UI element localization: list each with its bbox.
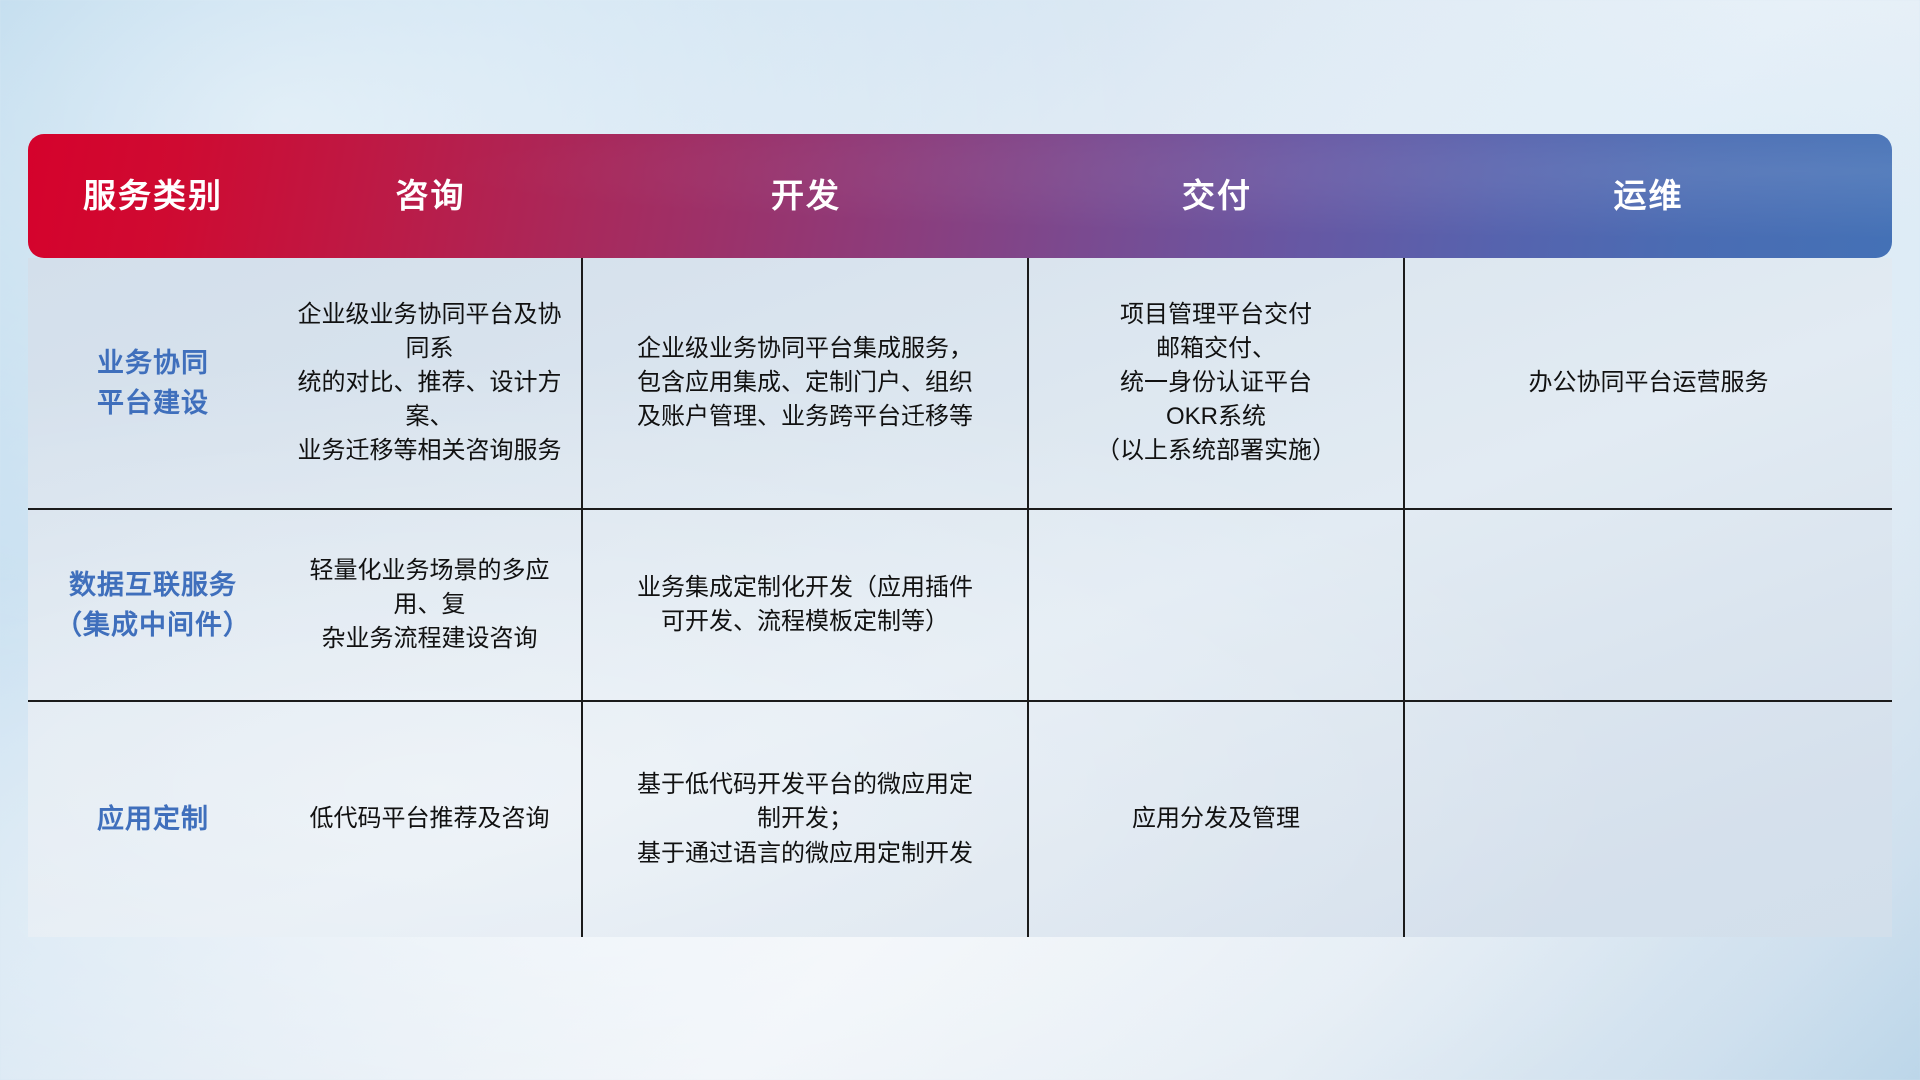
table-row: 应用定制 低代码平台推荐及咨询 基于低代码开发平台的微应用定 制开发； 基于通过… [28,702,1892,937]
cell-operations [1405,510,1892,700]
cell-operations: 办公协同平台运营服务 [1405,258,1892,508]
table-row: 数据互联服务 （集成中间件） 轻量化业务场景的多应用、复 杂业务流程建设咨询 业… [28,510,1892,702]
service-matrix-table: 服务类别 咨询 开发 交付 运维 业务协同 平台建设 企业级业务协同平台及协同系… [28,134,1892,937]
cell-consulting: 低代码平台推荐及咨询 [278,702,583,937]
row-label-cell: 业务协同 平台建设 [28,258,278,508]
table-body: 业务协同 平台建设 企业级业务协同平台及协同系 统的对比、推荐、设计方案、 业务… [28,258,1892,937]
cell-consulting: 企业级业务协同平台及协同系 统的对比、推荐、设计方案、 业务迁移等相关咨询服务 [278,258,583,508]
table-header-row: 服务类别 咨询 开发 交付 运维 [28,134,1892,258]
cell-development: 企业级业务协同平台集成服务， 包含应用集成、定制门户、组织 及账户管理、业务跨平… [583,258,1029,508]
row-label-cell: 应用定制 [28,702,278,937]
table-row: 业务协同 平台建设 企业级业务协同平台及协同系 统的对比、推荐、设计方案、 业务… [28,258,1892,510]
cell-development: 基于低代码开发平台的微应用定 制开发； 基于通过语言的微应用定制开发 [583,702,1029,937]
cell-delivery: 项目管理平台交付 邮箱交付、 统一身份认证平台 OKR系统 （以上系统部署实施） [1029,258,1405,508]
column-header-consulting: 咨询 [278,134,583,258]
column-header-delivery: 交付 [1029,134,1405,258]
column-header-category: 服务类别 [28,134,278,258]
cell-operations [1405,702,1892,937]
row-label-cell: 数据互联服务 （集成中间件） [28,510,278,700]
column-header-operations: 运维 [1405,134,1892,258]
cell-delivery [1029,510,1405,700]
cell-development: 业务集成定制化开发（应用插件 可开发、流程模板定制等） [583,510,1029,700]
column-header-development: 开发 [583,134,1029,258]
cell-delivery: 应用分发及管理 [1029,702,1405,937]
cell-consulting: 轻量化业务场景的多应用、复 杂业务流程建设咨询 [278,510,583,700]
